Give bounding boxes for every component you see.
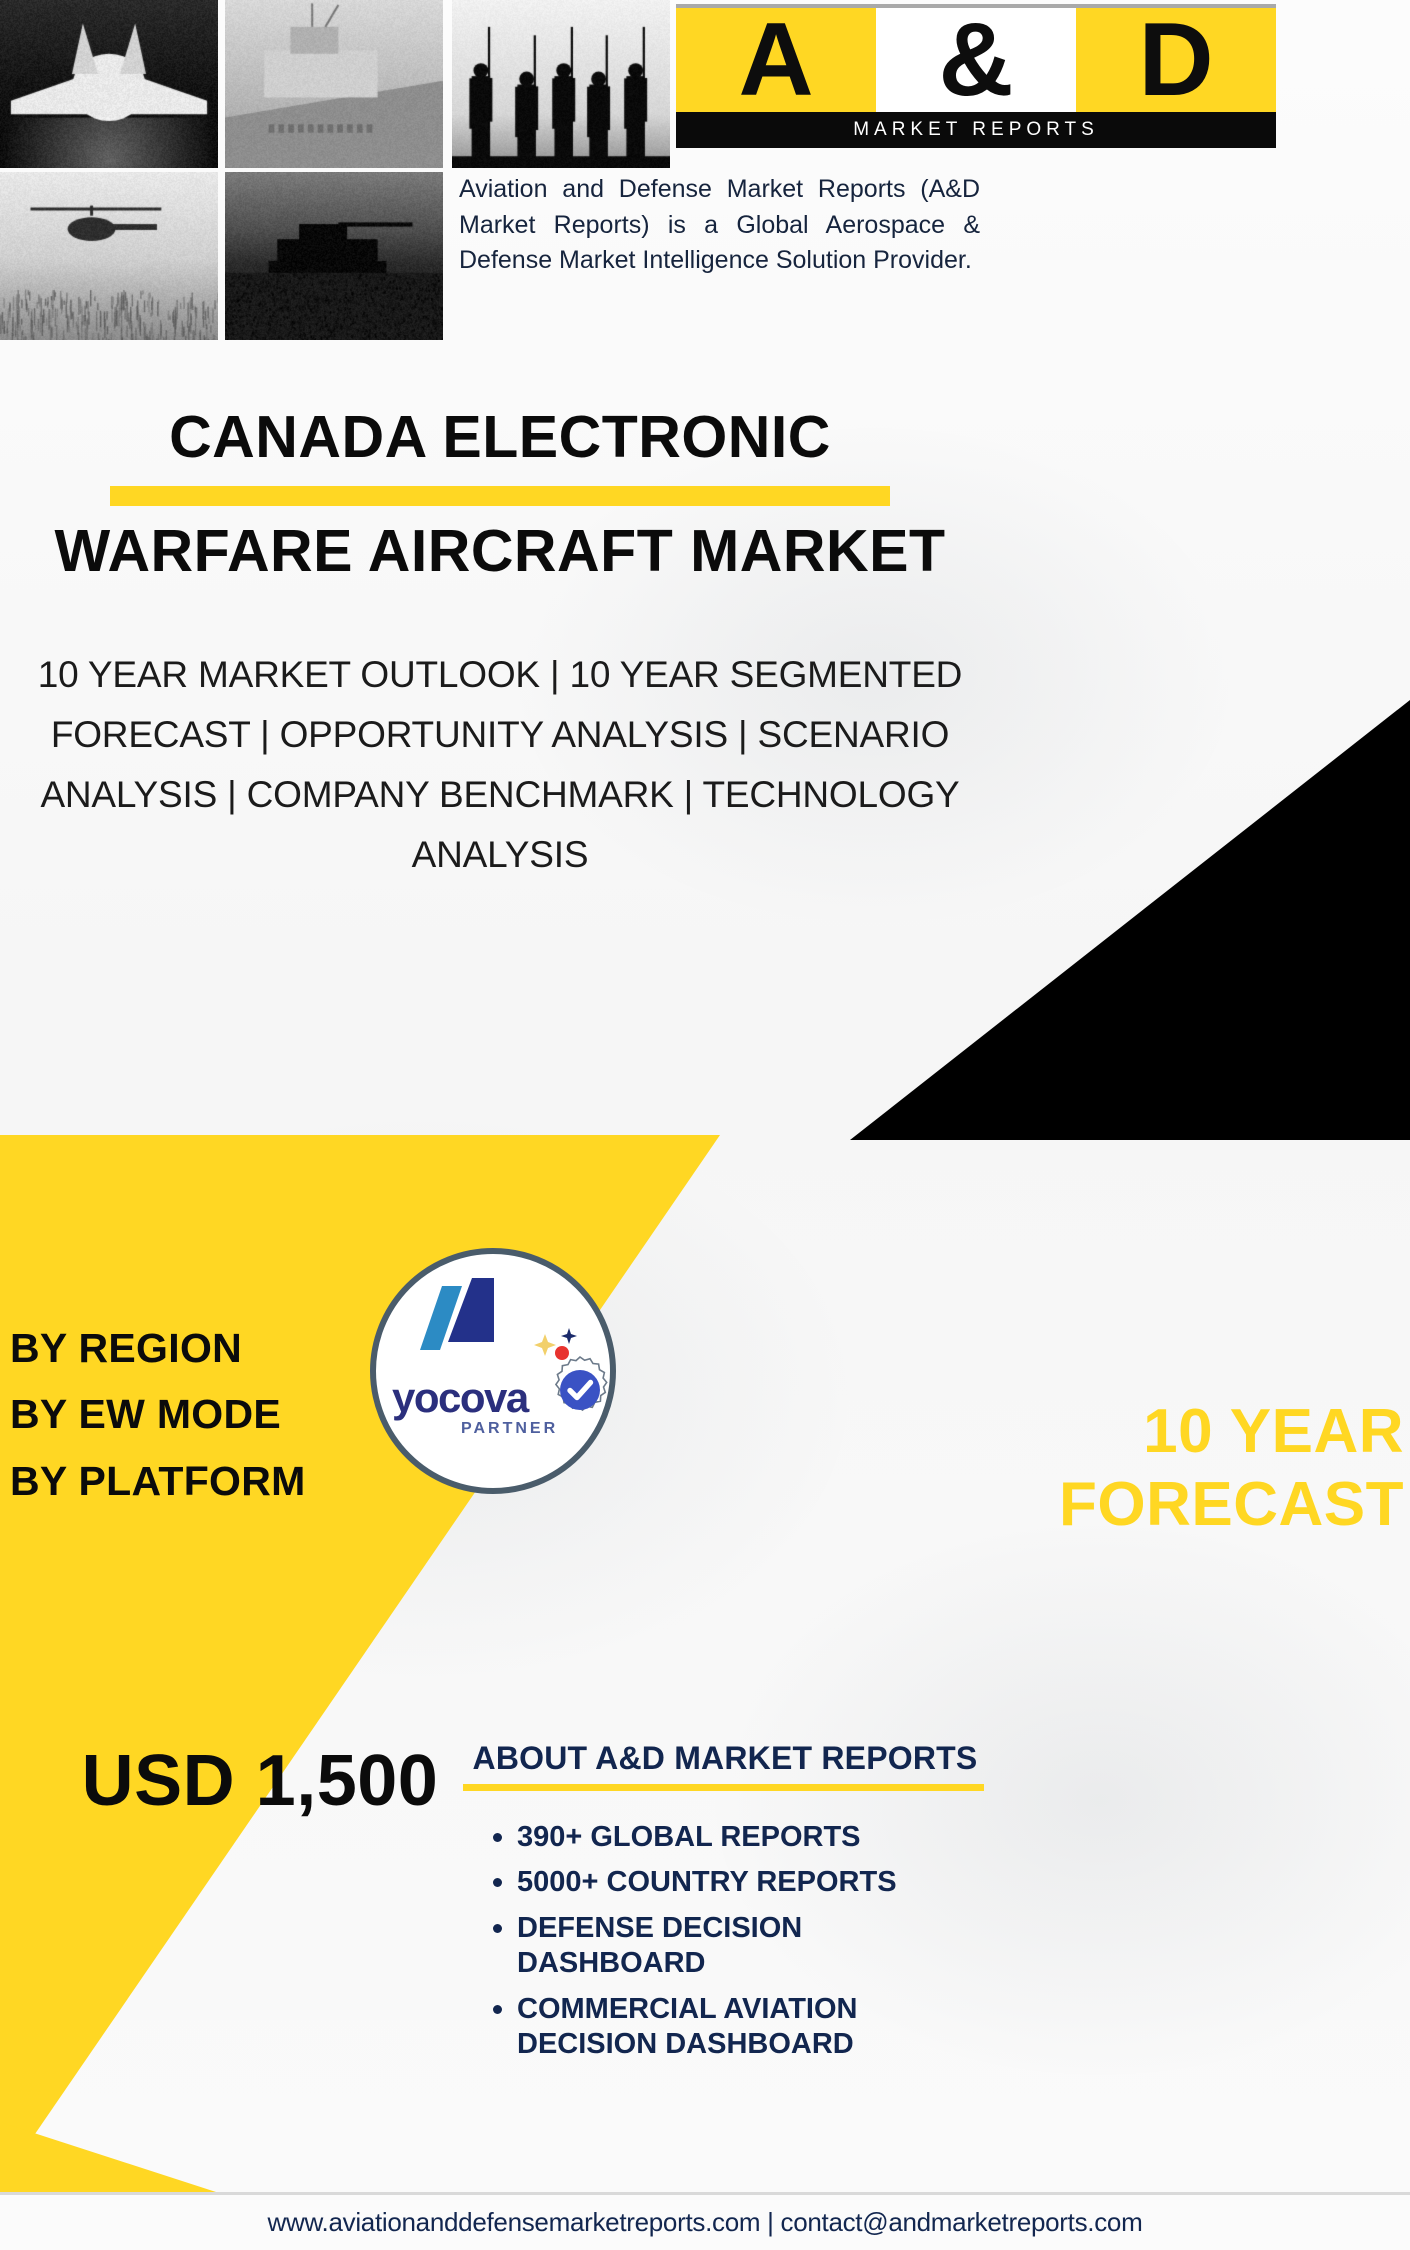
list-item: 5000+ COUNTRY REPORTS bbox=[487, 1865, 987, 1900]
list-item: COMMERCIAL AVIATION DECISION DASHBOARD bbox=[487, 1992, 987, 2063]
fighter-jet-photo bbox=[0, 0, 218, 168]
verified-seal-icon bbox=[544, 1354, 616, 1426]
forecast-callout: 10 YEAR FORECAST bbox=[904, 1395, 1404, 1541]
naval-ship-photo bbox=[225, 0, 443, 168]
segment-by-region: BY REGION bbox=[10, 1315, 306, 1381]
footer-contact-bar[interactable]: www.aviationanddefensemarketreports.com … bbox=[0, 2192, 1410, 2250]
segment-by-ew-mode: BY EW MODE bbox=[10, 1381, 306, 1447]
title-underline-bar bbox=[110, 486, 890, 506]
forecast-line-2: FORECAST bbox=[904, 1468, 1404, 1541]
list-item: DEFENSE DECISION DASHBOARD bbox=[487, 1911, 987, 1982]
page-title: CANADA ELECTRONIC WARFARE AIRCRAFT MARKE… bbox=[0, 406, 1000, 583]
armored-vehicle-photo bbox=[225, 172, 443, 340]
logo-letter-ampersand: & bbox=[876, 4, 1076, 112]
logo-letter-a: A bbox=[676, 4, 876, 112]
about-heading: ABOUT A&D MARKET REPORTS bbox=[460, 1740, 990, 1777]
yocova-partner-badge: yocova PARTNER bbox=[370, 1248, 616, 1494]
intro-paragraph: Aviation and Defense Market Reports (A&D… bbox=[459, 172, 980, 279]
logo-letter-row: A & D bbox=[676, 4, 1276, 112]
list-item: 390+ GLOBAL REPORTS bbox=[487, 1820, 987, 1855]
price-label: USD 1,500 bbox=[0, 1745, 520, 1817]
page-title-line-1: CANADA ELECTRONIC bbox=[0, 406, 1000, 470]
about-bullet-list: 390+ GLOBAL REPORTS 5000+ COUNTRY REPORT… bbox=[487, 1820, 987, 2072]
page-title-line-2: WARFARE AIRCRAFT MARKET bbox=[0, 520, 1000, 584]
segment-by-platform: BY PLATFORM bbox=[10, 1448, 306, 1514]
forecast-line-1: 10 YEAR bbox=[904, 1395, 1404, 1468]
helicopter-field-photo bbox=[0, 172, 218, 340]
photo-strip bbox=[0, 0, 672, 340]
logo-letter-d: D bbox=[1076, 4, 1276, 112]
soldiers-silhouette-photo bbox=[452, 0, 670, 168]
yocova-wordmark: yocova bbox=[392, 1374, 528, 1422]
about-heading-underline bbox=[463, 1784, 984, 1791]
report-features-subtitle: 10 YEAR MARKET OUTLOOK | 10 YEAR SEGMENT… bbox=[30, 645, 970, 885]
yocova-chevron-icon bbox=[416, 1276, 506, 1362]
segmentation-list: BY REGION BY EW MODE BY PLATFORM bbox=[10, 1315, 306, 1514]
ad-market-reports-logo: A & D MARKET REPORTS bbox=[676, 4, 1276, 148]
